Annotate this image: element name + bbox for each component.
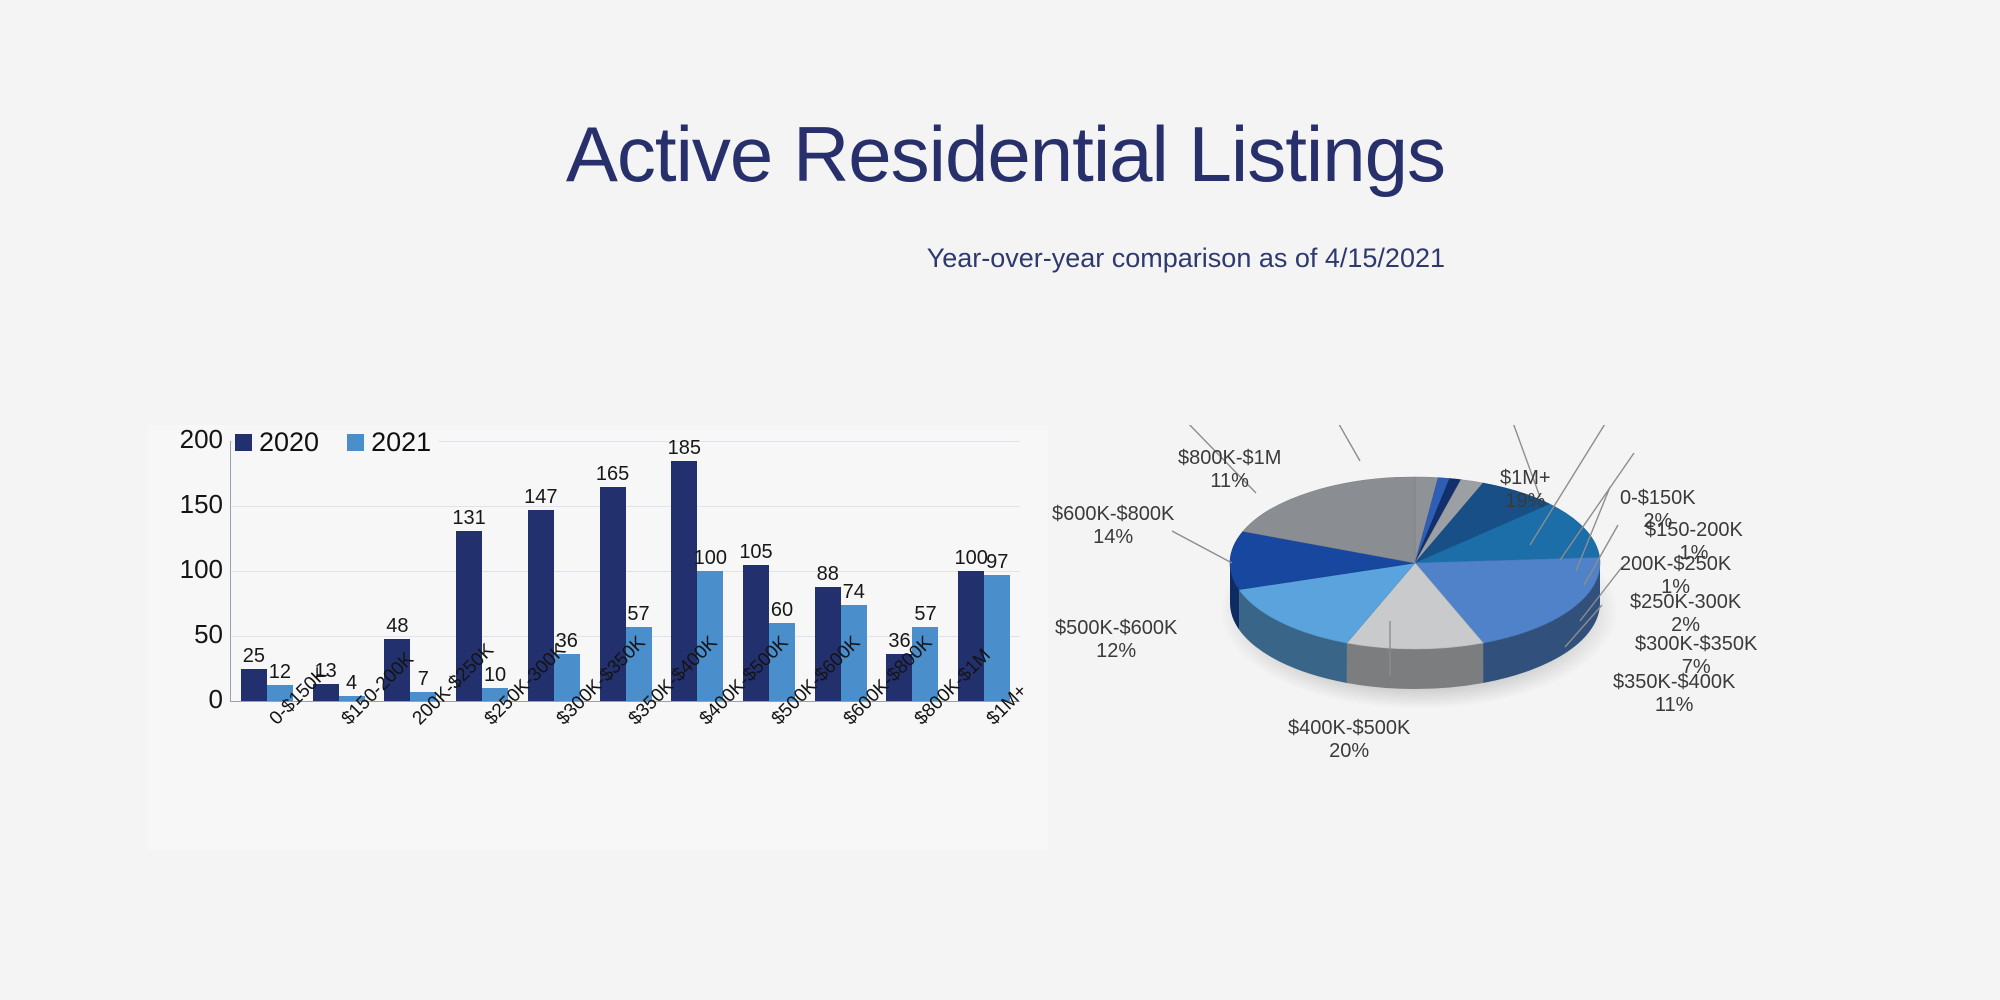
bar-value-label: 12 <box>269 662 291 682</box>
y-axis-tick-label: 150 <box>163 491 223 517</box>
bar-value-label: 48 <box>386 616 408 636</box>
bar-2021[interactable]: 97 <box>984 575 1010 701</box>
legend-item-2021[interactable]: 2021 <box>347 429 431 456</box>
y-axis-tick-label: 0 <box>163 686 223 712</box>
pie-callout-percent: 11% <box>1613 694 1735 717</box>
page-subtitle: Year-over-year comparison as of 4/15/202… <box>927 243 1445 274</box>
legend-swatch-icon <box>235 434 252 451</box>
pie-callout-label: $800K-$1M <box>1178 447 1281 469</box>
x-label-cell: $500K-$600K <box>733 707 805 837</box>
bar-value-label: 147 <box>524 487 557 507</box>
bar-value-label: 10 <box>484 665 506 685</box>
bar-value-label: 165 <box>596 464 629 484</box>
pie-callout--800K-1M: $800K-$1M11% <box>1178 447 1281 493</box>
bar-chart-plot-area: 050100150200 20202021 251213448713110147… <box>148 425 1048 725</box>
pie-callout-label: $500K-$600K <box>1055 617 1177 639</box>
pie-callout-label: 0-$150K <box>1620 487 1696 509</box>
bar-chart-x-labels: 0-$150K$150-200K200K-$250K$250K-300K$300… <box>231 707 1020 837</box>
x-label-cell: $1M+ <box>948 707 1020 837</box>
y-axis-tick-label: 100 <box>163 556 223 582</box>
pie-callout-percent: 14% <box>1052 526 1174 549</box>
x-label-cell: $300K-$350K <box>518 707 590 837</box>
pie-callout-percent: 12% <box>1055 640 1177 663</box>
x-label-cell: $250K-300K <box>446 707 518 837</box>
pie-callout-label: 200K-$250K <box>1620 553 1731 575</box>
bar-2020[interactable]: 25 <box>241 669 267 702</box>
pie-callout--500K-600K: $500K-$600K12% <box>1055 617 1177 663</box>
pie-callout-percent: 11% <box>1178 470 1281 493</box>
bar-value-label: 74 <box>843 582 865 602</box>
pie-chart: 0-$150K2%$150-200K1%200K-$250K1%$250K-30… <box>1060 425 1940 725</box>
pie-leader-line <box>1320 425 1360 461</box>
bar-value-label: 25 <box>243 646 265 666</box>
pie-callout--1M-: $1M+19% <box>1500 467 1551 513</box>
pie-callout-label: $150-200K <box>1645 519 1743 541</box>
bar-value-label: 185 <box>668 438 701 458</box>
x-label-cell: 0-$150K <box>231 707 303 837</box>
bar-value-label: 131 <box>452 508 485 528</box>
pie-callout-percent: 19% <box>1500 490 1551 513</box>
bar-value-label: 57 <box>627 604 649 624</box>
pie-callout-label: $400K-$500K <box>1288 717 1410 739</box>
x-label-cell: $350K-$400K <box>590 707 662 837</box>
bar-value-label: 7 <box>418 669 429 689</box>
legend-item-2020[interactable]: 2020 <box>235 429 319 456</box>
page-title: Active Residential Listings <box>566 115 1445 193</box>
pie-callout-label: $350K-$400K <box>1613 671 1735 693</box>
bar-value-label: 100 <box>955 548 988 568</box>
pie-callout--350K-400K: $350K-$400K11% <box>1613 671 1735 717</box>
bar-value-label: 88 <box>817 564 839 584</box>
pie-callout-label: $600K-$800K <box>1052 503 1174 525</box>
pie-callout-label: $1M+ <box>1500 467 1551 489</box>
pie-callout--250K-300K: $250K-300K2% <box>1630 591 1741 637</box>
pie-leader-line <box>1172 531 1232 563</box>
y-axis-tick-label: 200 <box>163 426 223 452</box>
bar-value-label: 100 <box>694 548 727 568</box>
legend-swatch-icon <box>347 434 364 451</box>
bar-value-label: 97 <box>986 552 1008 572</box>
y-axis-tick-label: 50 <box>163 621 223 647</box>
bar-value-label: 4 <box>346 673 357 693</box>
bar-chart: 050100150200 20202021 251213448713110147… <box>148 425 1048 850</box>
pie-callout-label: $300K-$350K <box>1635 633 1757 655</box>
bar-value-label: 60 <box>771 600 793 620</box>
pie-callout--400K-500K: $400K-$500K20% <box>1288 717 1410 763</box>
x-label-cell: $600K-$800K <box>805 707 877 837</box>
bar-group: 134 <box>303 441 375 701</box>
bar-group: 2512 <box>231 441 303 701</box>
bar-value-label: 105 <box>739 542 772 562</box>
legend-label: 2021 <box>371 429 431 456</box>
header: Active Residential Listings Year-over-ye… <box>0 0 2000 290</box>
pie-slice-side <box>1347 643 1483 689</box>
pie-callout--600K-800K: $600K-$800K14% <box>1052 503 1174 549</box>
pie-callout-label: $250K-300K <box>1630 591 1741 613</box>
bar-value-label: 57 <box>914 604 936 624</box>
x-label-cell: $400K-$500K <box>661 707 733 837</box>
x-label-cell: $800K-$1M <box>877 707 949 837</box>
x-label-cell: $150-200K <box>303 707 375 837</box>
bar-chart-y-axis: 050100150200 <box>148 425 223 725</box>
x-label-cell: 200K-$250K <box>374 707 446 837</box>
legend-label: 2020 <box>259 429 319 456</box>
pie-callout-percent: 20% <box>1288 740 1410 763</box>
bar-chart-legend: 20202021 <box>233 427 439 458</box>
